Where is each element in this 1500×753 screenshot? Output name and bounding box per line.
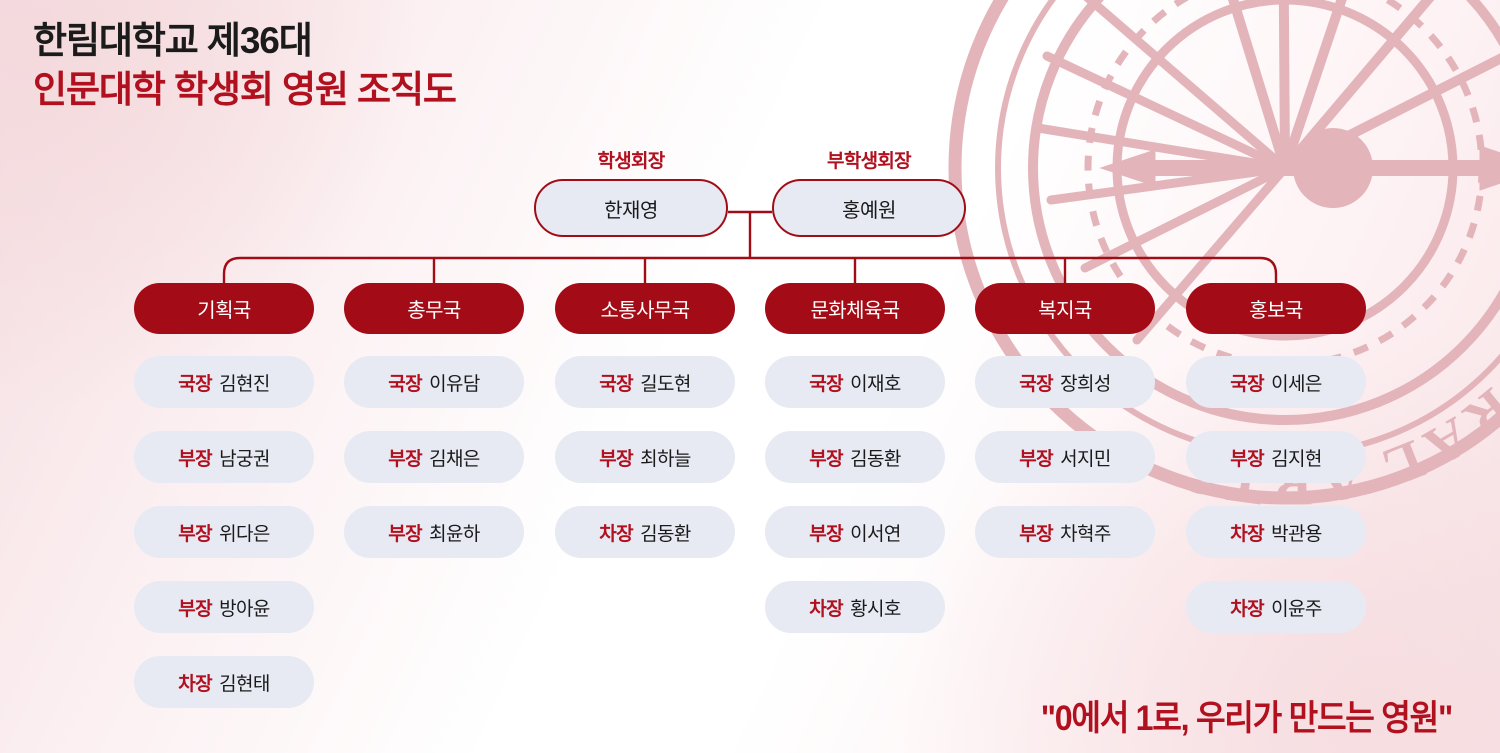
dept-column-2: 소통사무국 국장 길도현 부장 최하늘 차장 김동환 — [555, 283, 735, 581]
member-role: 부장 — [388, 444, 422, 471]
member-item[interactable]: 국장 이유담 — [344, 356, 524, 408]
dept-header[interactable]: 기획국 — [134, 283, 314, 334]
member-item[interactable]: 부장 김동환 — [765, 431, 945, 483]
dept-column-0: 기획국 국장 김현진 부장 남궁권 부장 위다은 부장 방아윤 차장 김현태 — [134, 283, 314, 731]
member-name: 황시호 — [850, 594, 901, 621]
member-name: 위다은 — [219, 519, 270, 546]
page-title: 한림대학교 제36대 인문대학 학생회 영원 조직도 — [33, 16, 456, 114]
member-role: 국장 — [1019, 369, 1053, 396]
dept-column-3: 문화체육국 국장 이재호 부장 김동환 부장 이서연 차장 황시호 — [765, 283, 945, 656]
member-role: 국장 — [388, 369, 422, 396]
member-item[interactable]: 부장 차혁주 — [975, 506, 1155, 558]
title-line-university: 한림대학교 제36대 — [33, 16, 456, 65]
leader-name: 홍예원 — [772, 179, 966, 237]
member-name: 김지현 — [1271, 444, 1322, 471]
member-name: 최윤하 — [429, 519, 480, 546]
member-name: 차혁주 — [1060, 519, 1111, 546]
dept-member-list: 국장 이재호 부장 김동환 부장 이서연 차장 황시호 — [765, 356, 945, 633]
dept-member-list: 국장 장희성 부장 서지민 부장 차혁주 — [975, 356, 1155, 558]
member-role: 부장 — [1019, 444, 1053, 471]
member-name: 길도현 — [640, 369, 691, 396]
member-name: 김동환 — [850, 444, 901, 471]
member-role: 부장 — [178, 444, 212, 471]
member-item[interactable]: 부장 방아윤 — [134, 581, 314, 633]
member-item[interactable]: 부장 남궁권 — [134, 431, 314, 483]
member-item[interactable]: 부장 이서연 — [765, 506, 945, 558]
member-item[interactable]: 차장 황시호 — [765, 581, 945, 633]
leader-caption: 부학생회장 — [772, 146, 966, 173]
member-name: 김현태 — [219, 669, 270, 696]
dept-header[interactable]: 총무국 — [344, 283, 524, 334]
leader-card-vice-president[interactable]: 부학생회장 홍예원 — [772, 146, 966, 237]
organization-chart-poster: COLLEGE OF LIBERAL ARTS 영원 한림대학교 제36대 인문… — [0, 0, 1500, 753]
dept-column-5: 홍보국 국장 이세은 부장 김지현 차장 박관용 차장 이윤주 — [1186, 283, 1366, 656]
member-name: 김현진 — [219, 369, 270, 396]
dept-header[interactable]: 홍보국 — [1186, 283, 1366, 334]
member-role: 부장 — [178, 594, 212, 621]
member-name: 김채은 — [429, 444, 480, 471]
member-item[interactable]: 부장 최하늘 — [555, 431, 735, 483]
member-item[interactable]: 차장 이윤주 — [1186, 581, 1366, 633]
member-name: 장희성 — [1060, 369, 1111, 396]
dept-member-list: 국장 김현진 부장 남궁권 부장 위다은 부장 방아윤 차장 김현태 — [134, 356, 314, 708]
member-item[interactable]: 차장 김동환 — [555, 506, 735, 558]
member-item[interactable]: 차장 박관용 — [1186, 506, 1366, 558]
leader-name: 한재영 — [534, 179, 728, 237]
member-role: 차장 — [599, 519, 633, 546]
member-role: 차장 — [1230, 594, 1264, 621]
member-name: 최하늘 — [640, 444, 691, 471]
member-name: 이재호 — [850, 369, 901, 396]
member-name: 이서연 — [850, 519, 901, 546]
member-role: 국장 — [809, 369, 843, 396]
member-role: 부장 — [599, 444, 633, 471]
dept-header[interactable]: 복지국 — [975, 283, 1155, 334]
member-name: 방아윤 — [219, 594, 270, 621]
dept-column-4: 복지국 국장 장희성 부장 서지민 부장 차혁주 — [975, 283, 1155, 581]
member-name: 이유담 — [429, 369, 480, 396]
dept-member-list: 국장 길도현 부장 최하늘 차장 김동환 — [555, 356, 735, 558]
leader-caption: 학생회장 — [534, 146, 728, 173]
member-role: 차장 — [178, 669, 212, 696]
member-name: 남궁권 — [219, 444, 270, 471]
dept-column-1: 총무국 국장 이유담 부장 김채은 부장 최윤하 — [344, 283, 524, 581]
member-item[interactable]: 국장 김현진 — [134, 356, 314, 408]
member-role: 부장 — [388, 519, 422, 546]
member-name: 박관용 — [1271, 519, 1322, 546]
member-item[interactable]: 국장 이재호 — [765, 356, 945, 408]
member-item[interactable]: 국장 이세은 — [1186, 356, 1366, 408]
member-role: 차장 — [809, 594, 843, 621]
dept-header[interactable]: 문화체육국 — [765, 283, 945, 334]
member-item[interactable]: 부장 김지현 — [1186, 431, 1366, 483]
member-name: 김동환 — [640, 519, 691, 546]
member-item[interactable]: 부장 김채은 — [344, 431, 524, 483]
dept-member-list: 국장 이세은 부장 김지현 차장 박관용 차장 이윤주 — [1186, 356, 1366, 633]
distribution-bus-line — [224, 258, 1276, 283]
dept-header[interactable]: 소통사무국 — [555, 283, 735, 334]
dept-member-list: 국장 이유담 부장 김채은 부장 최윤하 — [344, 356, 524, 558]
member-role: 부장 — [1019, 519, 1053, 546]
member-role: 차장 — [1230, 519, 1264, 546]
member-role: 국장 — [178, 369, 212, 396]
member-name: 이세은 — [1271, 369, 1322, 396]
member-item[interactable]: 차장 김현태 — [134, 656, 314, 708]
member-role: 부장 — [809, 519, 843, 546]
member-role: 부장 — [178, 519, 212, 546]
slogan-text: "0에서 1로, 우리가 만드는 영원" — [1041, 690, 1452, 741]
member-role: 부장 — [1230, 444, 1264, 471]
title-line-subject: 인문대학 학생회 영원 조직도 — [33, 65, 456, 114]
member-name: 서지민 — [1060, 444, 1111, 471]
leader-card-president[interactable]: 학생회장 한재영 — [534, 146, 728, 237]
member-item[interactable]: 국장 장희성 — [975, 356, 1155, 408]
member-item[interactable]: 부장 최윤하 — [344, 506, 524, 558]
member-role: 국장 — [599, 369, 633, 396]
member-name: 이윤주 — [1271, 594, 1322, 621]
member-item[interactable]: 국장 길도현 — [555, 356, 735, 408]
member-role: 국장 — [1230, 369, 1264, 396]
member-item[interactable]: 부장 서지민 — [975, 431, 1155, 483]
member-role: 부장 — [809, 444, 843, 471]
member-item[interactable]: 부장 위다은 — [134, 506, 314, 558]
